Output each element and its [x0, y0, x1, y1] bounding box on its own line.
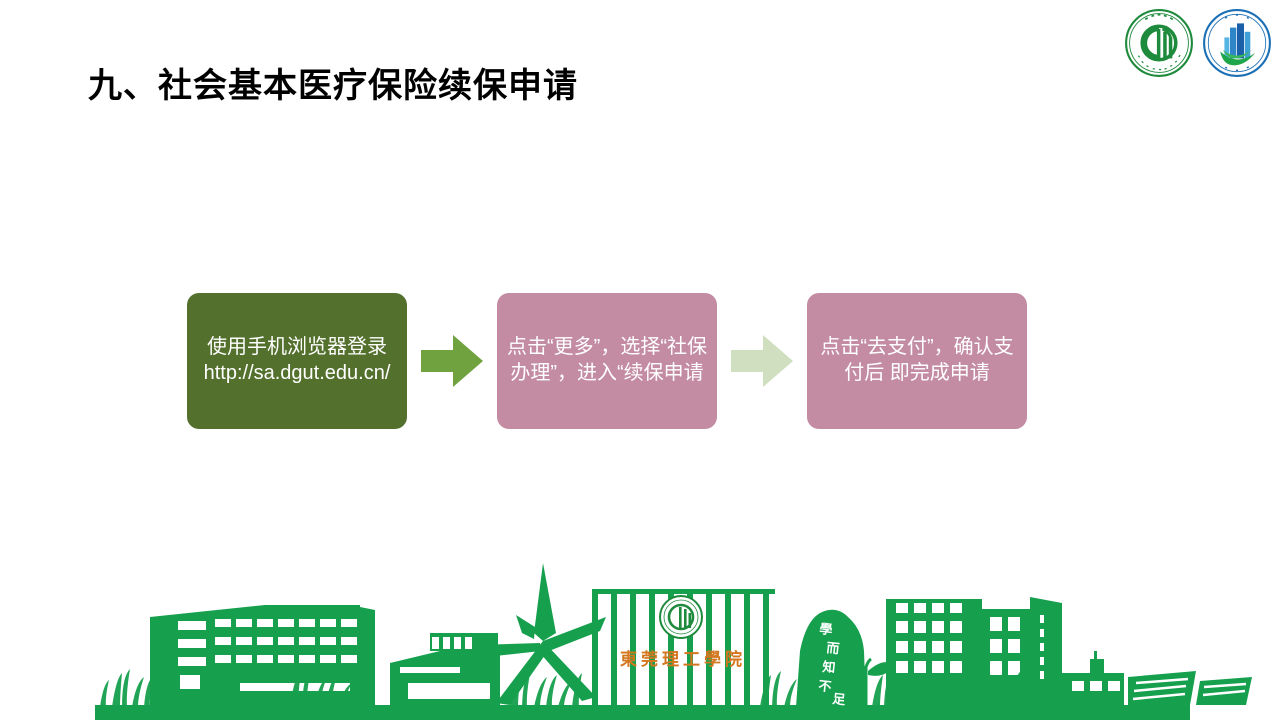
slide-canvas: 九、社会基本医疗保险续保申请 使用手机浏览器登录 http://sa.dgut.…	[0, 0, 1280, 720]
stone-monument: 學 而 知 不 足	[796, 610, 866, 708]
logo-strip	[1124, 8, 1272, 78]
flow-step-3[interactable]: 点击“去支付”，确认支付后 即完成申请	[807, 293, 1027, 429]
flow-step-1[interactable]: 使用手机浏览器登录 http://sa.dgut.edu.cn/	[187, 293, 407, 429]
svg-text:而: 而	[826, 640, 841, 656]
campus-gate: 東莞理工學院	[592, 589, 775, 707]
leaf-sprout	[842, 659, 894, 707]
arrow-right-icon	[731, 333, 793, 389]
flow-step-2[interactable]: 点击“更多”，选择“社保办理”，进入“续保申请	[497, 293, 717, 429]
page-title: 九、社会基本医疗保险续保申请	[88, 66, 578, 107]
dgut-logo	[1124, 8, 1194, 78]
arrow-right-icon	[421, 333, 483, 389]
svg-text:不: 不	[818, 678, 833, 694]
svg-text:足: 足	[832, 691, 847, 707]
gdcpc-logo	[1202, 8, 1272, 78]
flow-arrow-1	[407, 293, 497, 429]
process-flow: 使用手机浏览器登录 http://sa.dgut.edu.cn/ 点击“更多”，…	[187, 293, 1029, 429]
stone-motto-text: 學	[819, 621, 834, 637]
flow-arrow-2	[717, 293, 807, 429]
gate-title-text: 東莞理工學院	[620, 649, 746, 669]
star-sculpture	[478, 563, 606, 705]
svg-text:知: 知	[822, 659, 837, 675]
grass	[100, 669, 1037, 707]
ground-strip	[95, 705, 1190, 720]
campus-buildings-left	[150, 605, 500, 707]
campus-buildings-right	[886, 597, 1252, 707]
gate-emblem	[660, 596, 702, 638]
campus-footer-art: 東莞理工學院 學 而 知 不 足	[0, 555, 1280, 720]
